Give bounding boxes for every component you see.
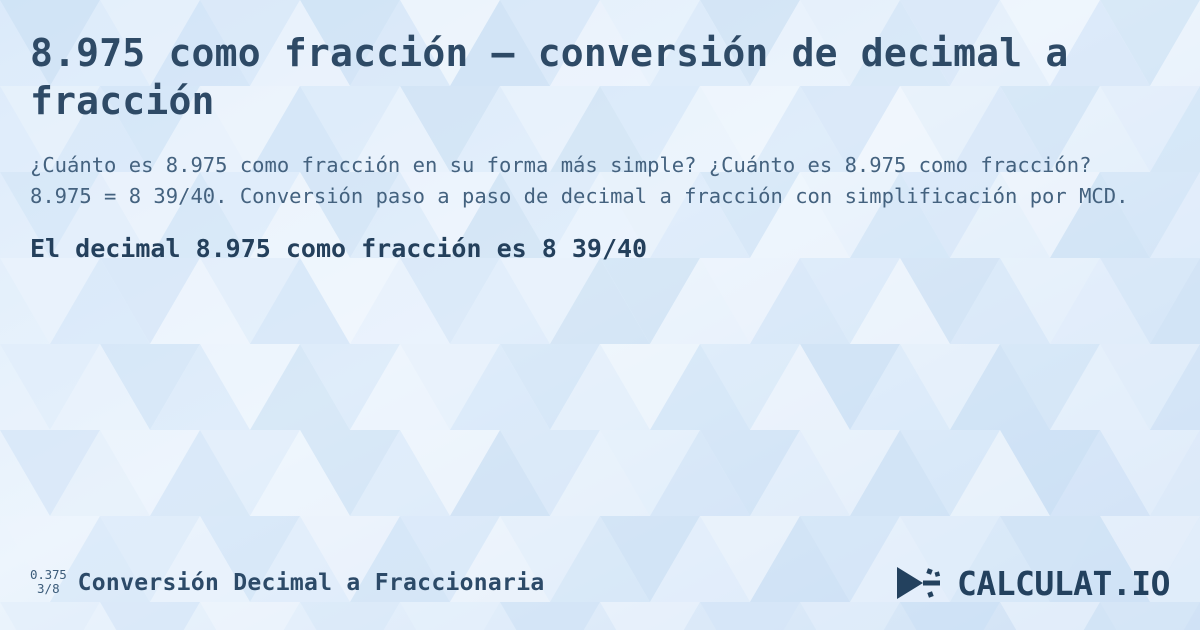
page-title: 8.975 como fracción – conversión de deci… <box>30 0 1100 126</box>
footer-section-title: Conversión Decimal a Fraccionaria <box>78 570 545 596</box>
answer-text: El decimal 8.975 como fracción es 8 39/4… <box>30 212 1170 263</box>
fraction-badge-icon: 0.375 3/8 <box>30 568 67 599</box>
fraction-badge-fraction: 3/8 <box>37 582 60 596</box>
fraction-badge-decimal: 0.375 <box>30 568 67 582</box>
brand-name: CALCULAT.IO <box>957 564 1170 603</box>
main-content: 8.975 como fracción – conversión de deci… <box>0 0 1200 263</box>
calculator-mark-icon <box>893 563 947 603</box>
brand-logo[interactable]: CALCULAT.IO <box>893 563 1170 603</box>
footer: 0.375 3/8 Conversión Decimal a Fracciona… <box>0 536 1200 630</box>
page-canvas: 8.975 como fracción – conversión de deci… <box>0 0 1200 630</box>
page-description: ¿Cuánto es 8.975 como fracción en su for… <box>30 126 1160 212</box>
